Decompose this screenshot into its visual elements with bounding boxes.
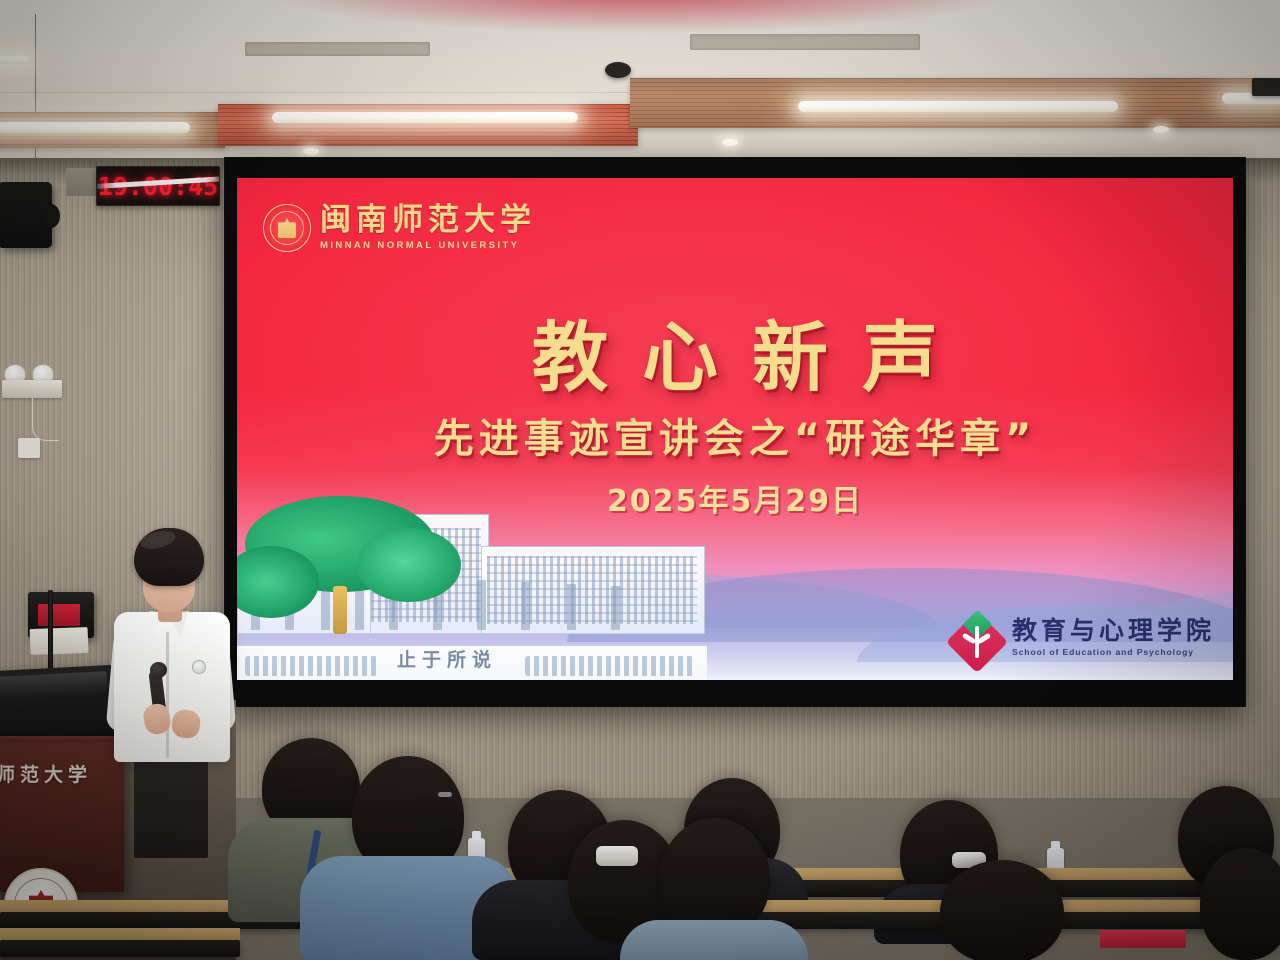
podium-red-banner bbox=[38, 604, 80, 626]
school-logo-mark-icon bbox=[952, 610, 1002, 664]
ceiling-vent-right bbox=[690, 34, 920, 50]
desk-edge-row1-left bbox=[0, 940, 240, 957]
university-name-block: 闽南师范大学 MINNAN NORMAL UNIVERSITY bbox=[320, 205, 536, 251]
campus-tree-right bbox=[357, 528, 461, 602]
ceiling-downlight-2 bbox=[722, 139, 738, 146]
speaker-shirt bbox=[114, 612, 230, 762]
ceiling-projector bbox=[1252, 78, 1280, 96]
school-name-block: 教育与心理学院 School of Education and Psycholo… bbox=[1012, 618, 1215, 657]
campus-windows-wing bbox=[487, 556, 697, 624]
campus-column-10 bbox=[611, 586, 620, 630]
university-seal-icon bbox=[263, 204, 311, 252]
fluorescent-tube-center bbox=[272, 112, 578, 123]
ceiling-red-reflection bbox=[0, 0, 1280, 50]
campus-column-7 bbox=[477, 580, 486, 630]
campus-hedge-right bbox=[525, 656, 693, 676]
speaker-badge-icon bbox=[192, 660, 206, 674]
university-name-cn: 闽南师范大学 bbox=[320, 205, 536, 236]
speaker-presenter bbox=[108, 528, 238, 858]
emergency-exit-light bbox=[2, 364, 64, 400]
school-logo: 教育与心理学院 School of Education and Psycholo… bbox=[952, 610, 1215, 664]
speaker-hair bbox=[134, 528, 204, 586]
wall-junction-box bbox=[18, 438, 40, 458]
speaker-shirt-placket bbox=[166, 632, 169, 758]
podium-monitor bbox=[0, 665, 116, 743]
campus-column-9 bbox=[567, 584, 576, 630]
led-clock: 19:00:45 bbox=[96, 166, 220, 206]
fluorescent-tube-left bbox=[0, 122, 190, 133]
audience-head-right-long-hair bbox=[940, 860, 1064, 960]
ceiling-downlight-3 bbox=[1153, 126, 1169, 133]
school-name-en: School of Education and Psychology bbox=[1012, 648, 1215, 657]
ceiling-downlight-1 bbox=[303, 148, 319, 155]
campus-column-8 bbox=[521, 582, 530, 630]
ceiling-sensor bbox=[605, 62, 631, 78]
led-display-screen[interactable]: 闽南师范大学 MINNAN NORMAL UNIVERSITY 教心新声 先进事… bbox=[237, 178, 1233, 680]
event-title: 教心新声 bbox=[237, 296, 1233, 406]
university-name-en: MINNAN NORMAL UNIVERSITY bbox=[320, 241, 536, 251]
campus-tree-trunk bbox=[333, 586, 347, 634]
audience-body-center-right bbox=[620, 920, 808, 960]
campus-hedge-left bbox=[245, 656, 377, 676]
red-folder-foreground bbox=[1100, 930, 1186, 948]
audience-glasses-arm-icon bbox=[438, 792, 452, 797]
wall-mounted-speaker bbox=[0, 182, 52, 248]
podium-white-paper bbox=[30, 627, 89, 655]
audience-head-far-right-front bbox=[1200, 848, 1280, 960]
emergency-light-body bbox=[2, 380, 62, 398]
campus-illustration: 止于所说 bbox=[237, 475, 707, 680]
school-name-cn: 教育与心理学院 bbox=[1012, 618, 1215, 643]
lecture-hall-photo: 19:00:45 闽南师范大学 MINNAN NORMAL UNIVERSITY… bbox=[0, 0, 1280, 960]
ceiling-vent-left bbox=[245, 42, 430, 56]
fluorescent-tube-corner bbox=[0, 56, 28, 64]
university-lockup: 闽南师范大学 MINNAN NORMAL UNIVERSITY bbox=[263, 204, 536, 252]
campus-motto-text: 止于所说 bbox=[397, 645, 497, 672]
event-subtitle: 先进事迹宣讲会之“研途华章” bbox=[237, 406, 1233, 464]
emergency-light-wire bbox=[32, 398, 59, 441]
podium-inscription: 师范大学 bbox=[0, 760, 116, 787]
ceiling-wood-beam-center bbox=[218, 104, 638, 146]
fluorescent-tube-right bbox=[798, 101, 1118, 112]
speaker-trousers bbox=[134, 756, 208, 858]
audience-hairclip-center bbox=[596, 846, 638, 866]
